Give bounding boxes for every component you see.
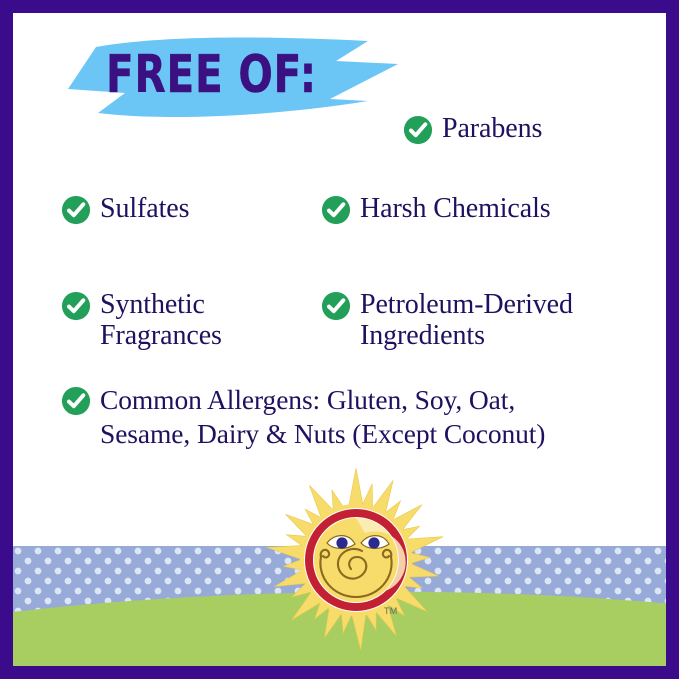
- list-item-parabens: Parabens: [403, 113, 542, 145]
- list-item-common-allergens: Common Allergens: Gluten, Soy, Oat, Sesa…: [61, 383, 545, 450]
- list-item-label: Common Allergens: Gluten, Soy, Oat, Sesa…: [100, 383, 545, 450]
- list-item-label: Petroleum-Derived Ingredients: [360, 289, 573, 352]
- list-item-harsh-chemicals: Harsh Chemicals: [321, 193, 551, 225]
- trademark-mark: TM: [384, 606, 398, 616]
- list-item-sulfates: Sulfates: [61, 193, 189, 225]
- list-item-label: Parabens: [442, 113, 542, 144]
- list-item-label: Sulfates: [100, 193, 189, 224]
- card-canvas: FREE OF: Parabens Sulfates Harsh Chemica…: [13, 13, 666, 666]
- banner-title: FREE OF:: [106, 44, 309, 106]
- list-item-label: Harsh Chemicals: [360, 193, 551, 224]
- check-circle-icon: [321, 291, 351, 321]
- check-circle-icon: [321, 195, 351, 225]
- check-circle-icon: [403, 115, 433, 145]
- list-item-label: Synthetic Fragrances: [100, 289, 222, 352]
- product-callout-card: FREE OF: Parabens Sulfates Harsh Chemica…: [0, 0, 679, 679]
- list-item-synthetic-fragrances: Synthetic Fragrances: [61, 289, 222, 352]
- list-item-petroleum-derived-ingredients: Petroleum-Derived Ingredients: [321, 289, 573, 352]
- check-circle-icon: [61, 195, 91, 225]
- check-circle-icon: [61, 291, 91, 321]
- smiling-sun-logo: [261, 465, 451, 655]
- free-of-banner: FREE OF:: [68, 37, 398, 122]
- check-circle-icon: [61, 386, 91, 416]
